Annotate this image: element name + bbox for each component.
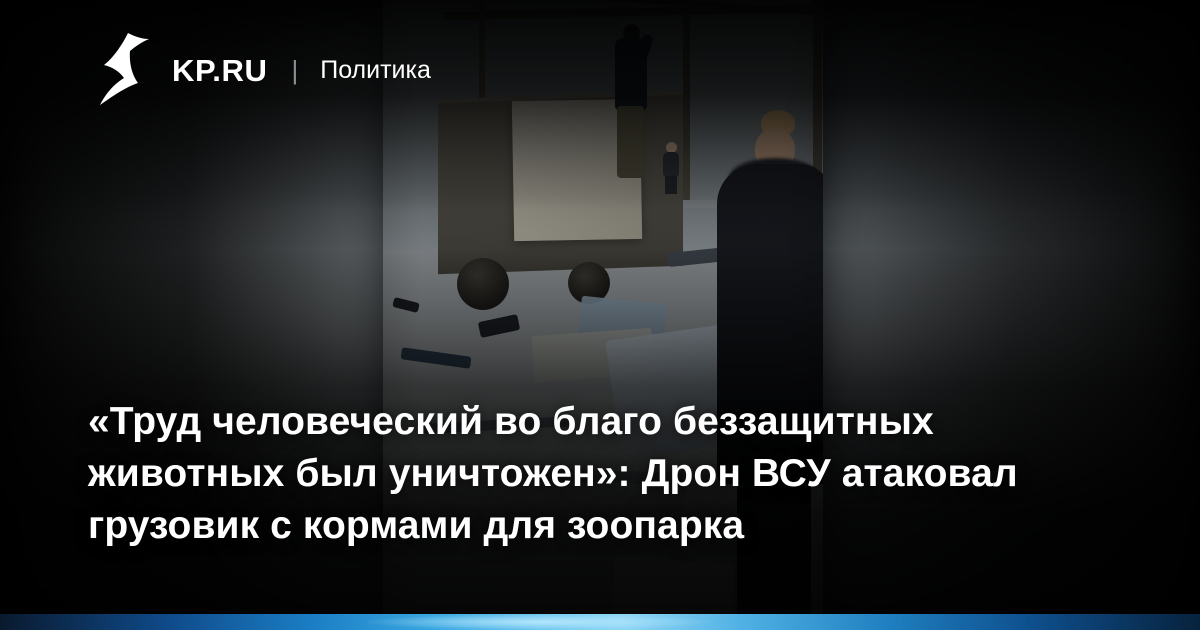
brand-name[interactable]: KP.RU: [172, 55, 267, 86]
bottom-accent-bar: [0, 614, 1200, 630]
section-label[interactable]: Политика: [320, 58, 431, 83]
card-header: KP.RU | Политика: [0, 0, 1200, 140]
header-divider: |: [291, 57, 298, 83]
social-share-card: KP.RU | Политика «Труд человеческий во б…: [0, 0, 1200, 630]
kp-bird-logo-icon[interactable]: [92, 34, 150, 106]
headline: «Труд человеческий во благо беззащитных …: [88, 396, 1050, 552]
accent-bar-glow: [360, 614, 720, 630]
